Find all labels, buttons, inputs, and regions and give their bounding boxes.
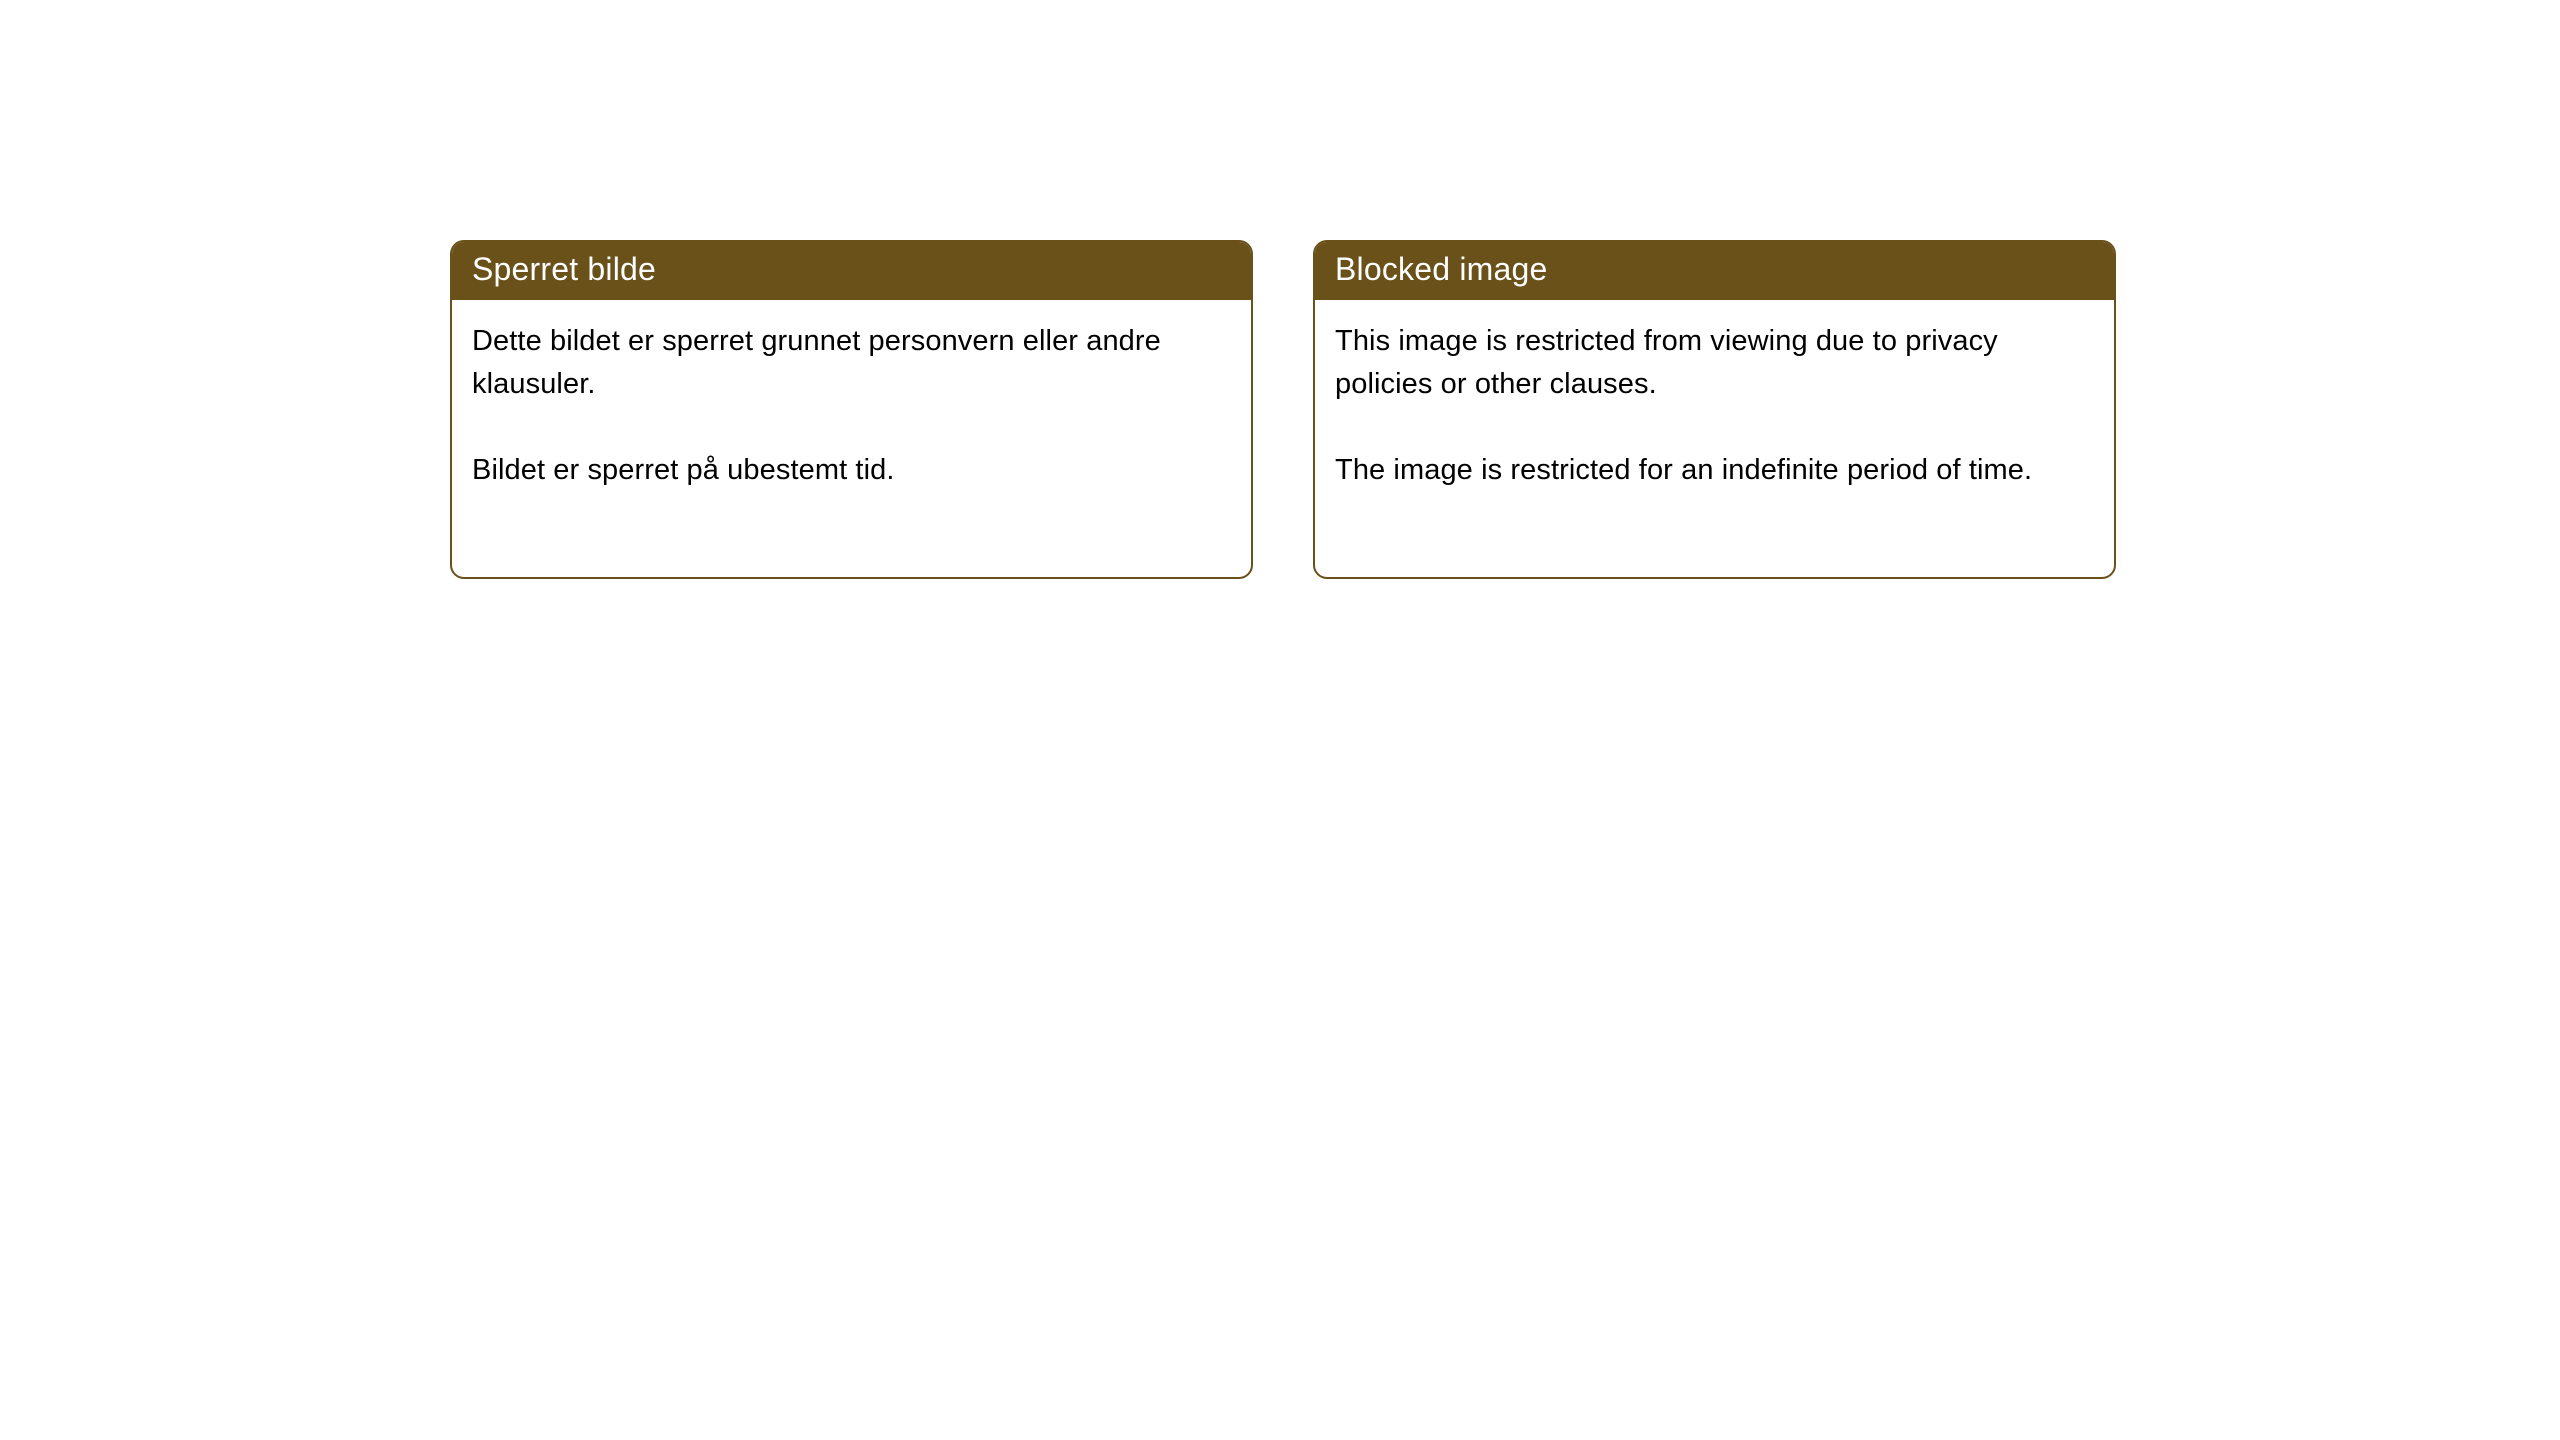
card-body-english: This image is restricted from viewing du… <box>1315 300 2114 577</box>
blocked-image-notice-group: Sperret bilde Dette bildet er sperret gr… <box>450 240 2116 579</box>
card-paragraph-reason-norwegian: Dette bildet er sperret grunnet personve… <box>472 320 1231 406</box>
card-title-norwegian: Sperret bilde <box>472 250 656 288</box>
card-paragraph-duration-norwegian: Bildet er sperret på ubestemt tid. <box>472 449 1231 492</box>
card-paragraph-duration-english: The image is restricted for an indefinit… <box>1335 449 2094 492</box>
card-header-norwegian: Sperret bilde <box>452 242 1251 300</box>
blocked-image-card-english: Blocked image This image is restricted f… <box>1313 240 2116 579</box>
card-paragraph-reason-english: This image is restricted from viewing du… <box>1335 320 2094 406</box>
card-body-norwegian: Dette bildet er sperret grunnet personve… <box>452 300 1251 577</box>
blocked-image-card-norwegian: Sperret bilde Dette bildet er sperret gr… <box>450 240 1253 579</box>
card-header-english: Blocked image <box>1315 242 2114 300</box>
card-title-english: Blocked image <box>1335 250 1548 288</box>
page-root: Sperret bilde Dette bildet er sperret gr… <box>0 0 2560 1440</box>
